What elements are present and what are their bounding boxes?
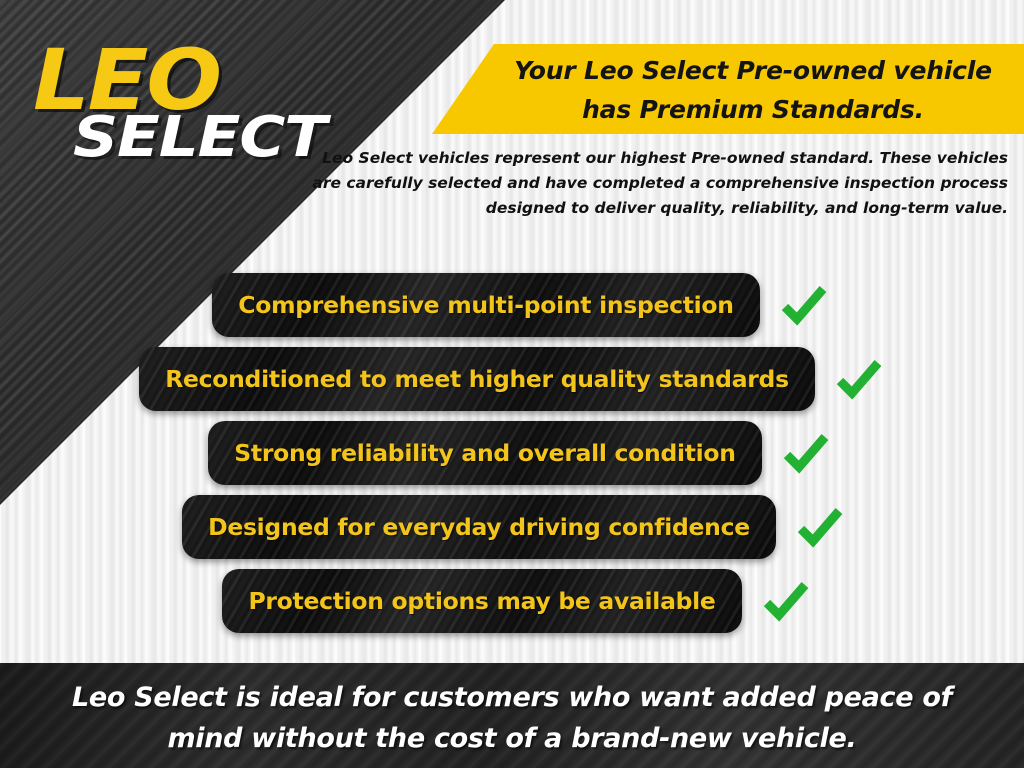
feature-list: Comprehensive multi-point inspection Rec… — [0, 268, 1024, 638]
feature-label: Strong reliability and overall condition — [234, 439, 735, 467]
headline-banner: Your Leo Select Pre-owned vehicle has Pr… — [432, 44, 1024, 134]
footer-line-2: mind without the cost of a brand-new veh… — [50, 718, 974, 759]
check-icon — [780, 427, 832, 479]
feature-row: Strong reliability and overall condition — [0, 416, 1024, 490]
footer-line-1: Leo Select is ideal for customers who wa… — [50, 677, 974, 718]
headline-line-2: has Premium Standards. — [488, 90, 1018, 129]
logo-secondary-text: SELECT — [73, 110, 326, 166]
footer-text-block: Leo Select is ideal for customers who wa… — [50, 677, 974, 759]
headline-line-1: Your Leo Select Pre-owned vehicle — [488, 51, 1018, 90]
feature-label: Comprehensive multi-point inspection — [238, 291, 733, 319]
feature-label: Protection options may be available — [248, 587, 715, 615]
check-icon — [778, 279, 830, 331]
check-icon — [794, 501, 846, 553]
brand-logo: LEO SELECT — [30, 38, 330, 178]
feature-pill-4[interactable]: Designed for everyday driving confidence — [182, 495, 776, 559]
intro-paragraph: Leo Select vehicles represent our highes… — [300, 146, 1008, 221]
leo-select-banner: LEO SELECT Your Leo Select Pre-owned veh… — [0, 0, 1024, 768]
feature-row: Protection options may be available — [0, 564, 1024, 638]
check-icon — [833, 353, 885, 405]
headline-block: Your Leo Select Pre-owned vehicle has Pr… — [488, 51, 1018, 129]
feature-label: Reconditioned to meet higher quality sta… — [165, 365, 789, 393]
feature-pill-2[interactable]: Reconditioned to meet higher quality sta… — [139, 347, 815, 411]
feature-row: Designed for everyday driving confidence — [0, 490, 1024, 564]
feature-pill-3[interactable]: Strong reliability and overall condition — [208, 421, 761, 485]
check-icon — [760, 575, 812, 627]
feature-row: Comprehensive multi-point inspection — [0, 268, 1024, 342]
feature-label: Designed for everyday driving confidence — [208, 513, 750, 541]
feature-row: Reconditioned to meet higher quality sta… — [0, 342, 1024, 416]
feature-pill-5[interactable]: Protection options may be available — [222, 569, 741, 633]
feature-pill-1[interactable]: Comprehensive multi-point inspection — [212, 273, 759, 337]
footer-bar: Leo Select is ideal for customers who wa… — [0, 663, 1024, 768]
